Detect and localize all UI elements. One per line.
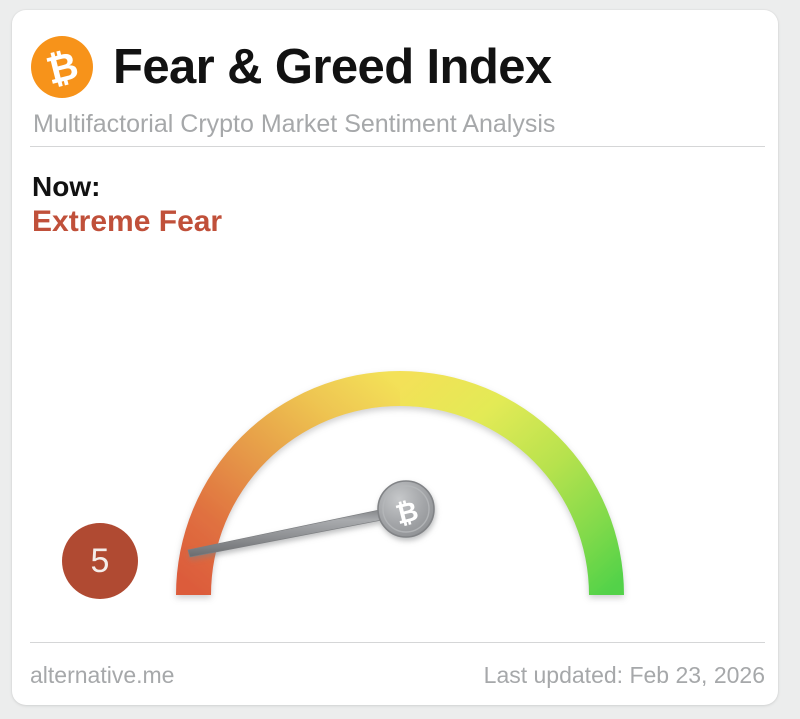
brand-row: ₿ Fear & Greed Index [31, 31, 552, 103]
score-badge: 5 [62, 523, 138, 599]
status-classification: Extreme Fear [32, 204, 222, 241]
bitcoin-icon: ₿ [31, 36, 93, 98]
score-value: 5 [91, 544, 110, 578]
card-footer: alternative.me Last updated: Feb 23, 202… [30, 660, 765, 690]
fear-greed-index-card: ₿ Fear & Greed Index Multifactorial Cryp… [12, 10, 778, 705]
page-subtitle: Multifactorial Crypto Market Sentiment A… [33, 112, 555, 137]
source-link[interactable]: alternative.me [30, 664, 174, 687]
footer-divider [30, 642, 765, 643]
header-divider [30, 146, 765, 147]
last-updated-label: Last updated: Feb 23, 2026 [484, 664, 765, 687]
page-title: Fear & Greed Index [113, 43, 552, 92]
card-header: ₿ Fear & Greed Index Multifactorial Cryp… [12, 10, 778, 146]
current-status-block: Now: Extreme Fear [32, 170, 222, 241]
status-now-label: Now: [32, 170, 222, 204]
svg-text:₿: ₿ [42, 45, 82, 93]
